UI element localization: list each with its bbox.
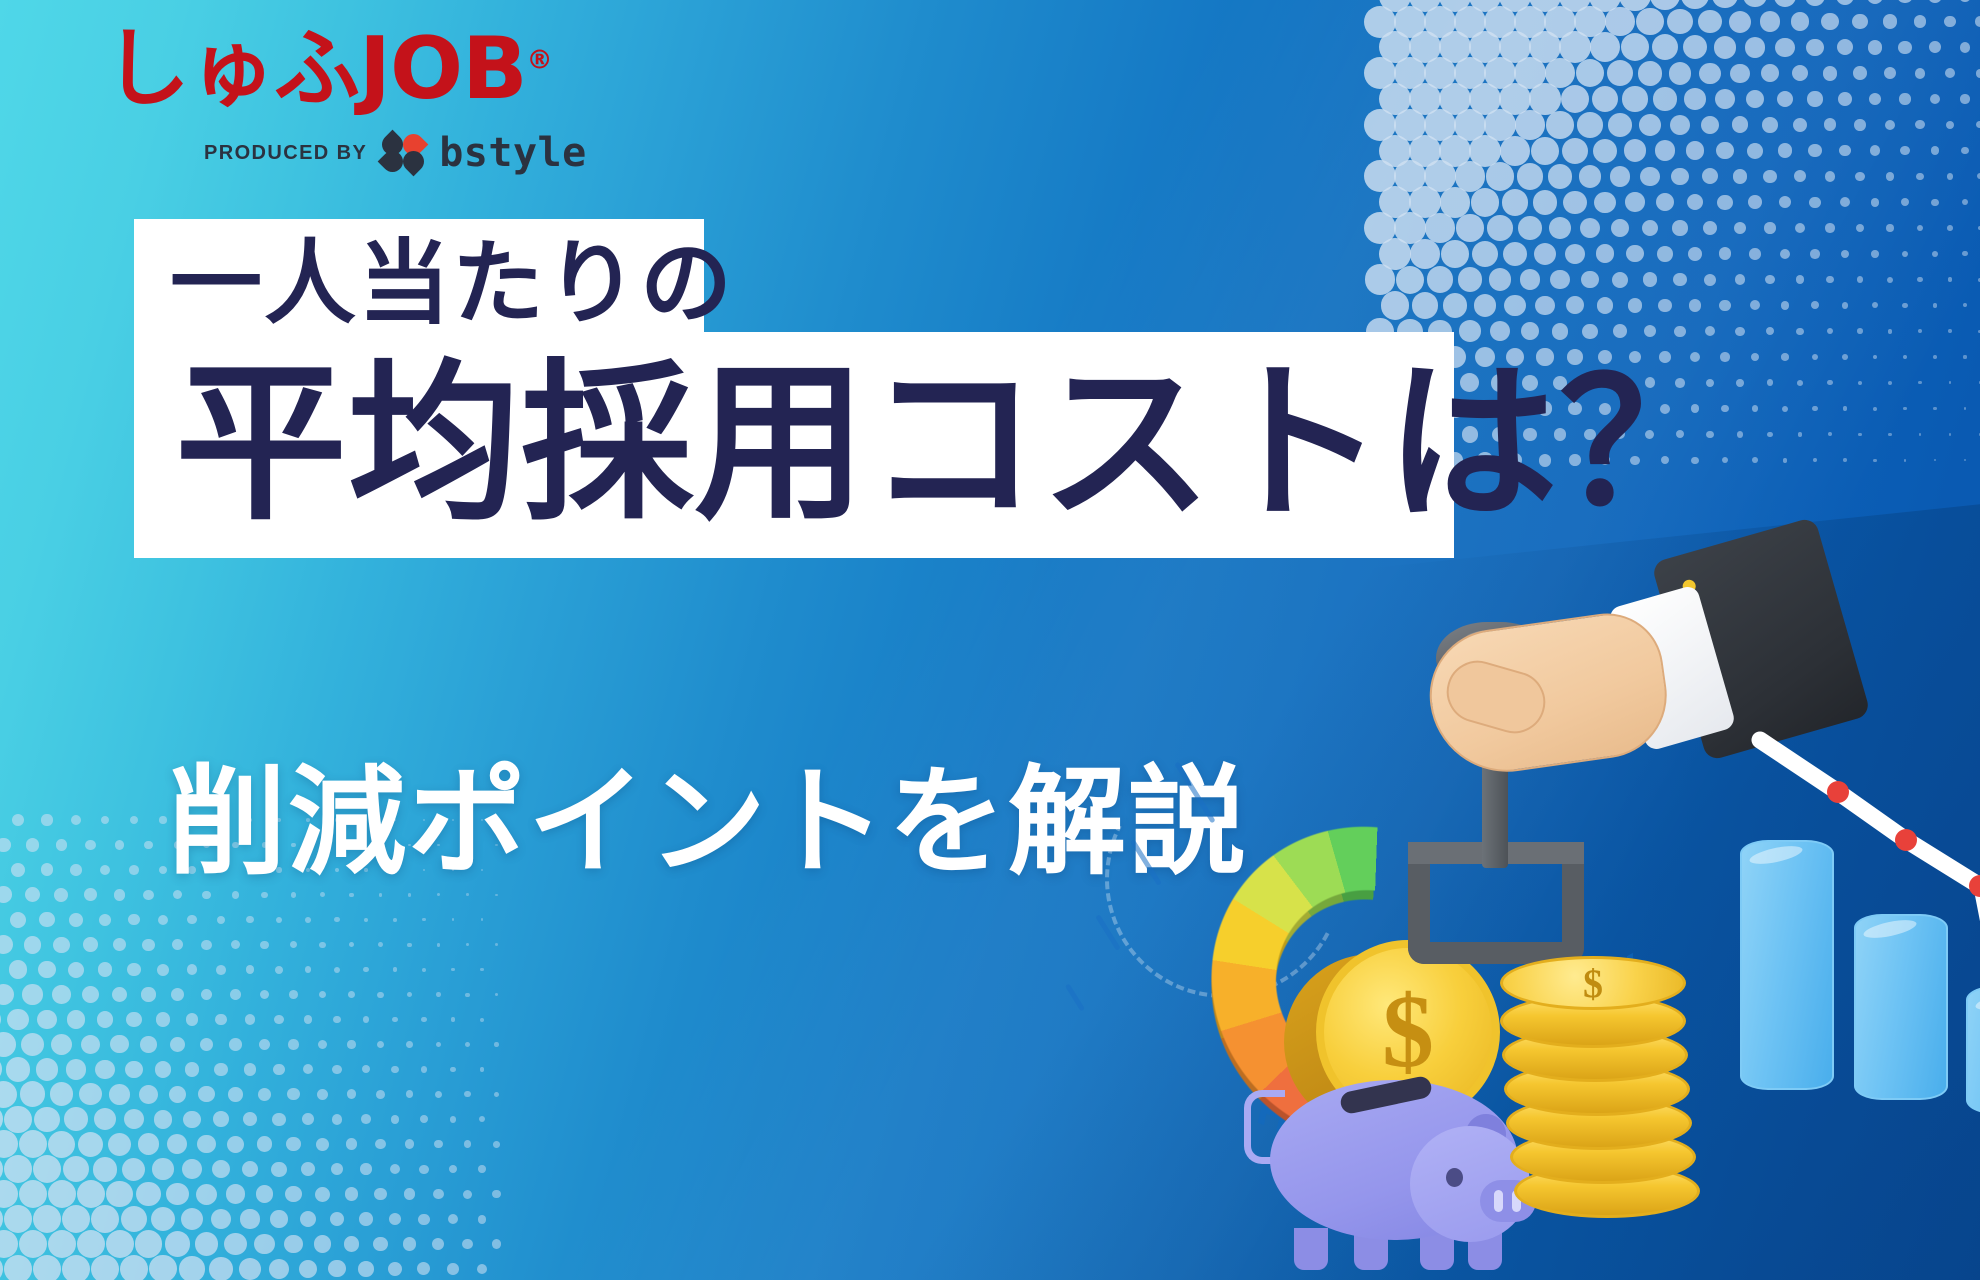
declining-bar-chart	[1730, 810, 1980, 1160]
headline-line-3: 削減ポイントを解説	[168, 760, 1248, 884]
producer-line: PRODUCED BY bstyle	[204, 130, 587, 176]
producer-name: bstyle	[439, 130, 587, 176]
piggy-eye	[1446, 1168, 1463, 1187]
coin-stack-top: $	[1500, 956, 1686, 1010]
hero-banner: しゅふJOB® PRODUCED BY bstyle 一人当たりの 平均採用コス…	[0, 0, 1980, 1280]
brand-logo: しゅふJOB® PRODUCED BY bstyle	[104, 26, 587, 176]
coin-stack: $	[1500, 940, 1710, 1220]
bar-3	[1966, 986, 1980, 1114]
logo-wordmark: しゅふJOB®	[104, 26, 587, 112]
clover-icon	[381, 133, 425, 173]
headline-line-2: 平均採用コストは？	[175, 355, 1425, 533]
logo-wordmark-text: しゅふJOB	[104, 19, 527, 119]
registered-mark: ®	[527, 45, 553, 75]
produced-by-label: PRODUCED BY	[204, 142, 367, 165]
cost-illustration: HIGH LOW $	[1130, 640, 1980, 1280]
headline-line-1: 一人当たりの	[170, 236, 690, 332]
